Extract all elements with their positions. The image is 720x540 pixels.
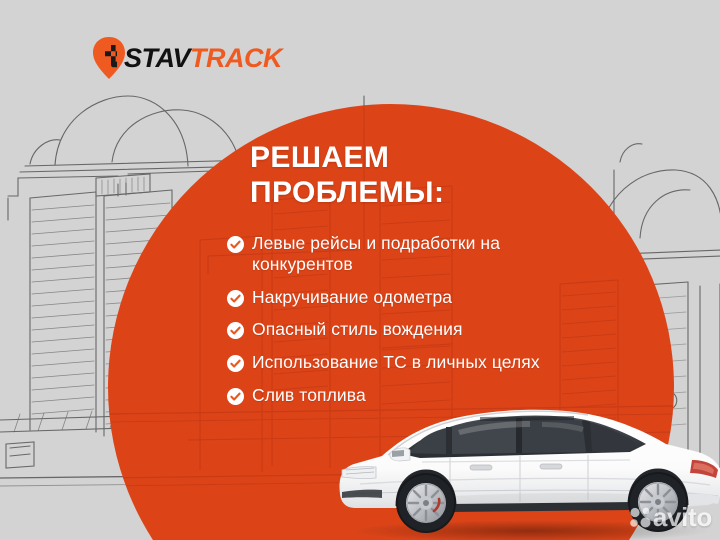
page-title: РЕШАЕМ ПРОБЛЕМЫ: <box>250 140 444 211</box>
location-pin-t-icon <box>92 36 126 80</box>
list-item: Левые рейсы и подработки на конкурентов <box>227 233 557 275</box>
check-circle-icon <box>227 388 244 405</box>
list-item: Использование ТС в личных целях <box>227 352 557 373</box>
logo-text-track: TRACK <box>190 43 282 73</box>
headline-line-1: РЕШАЕМ <box>250 140 444 175</box>
list-item-label: Использование ТС в личных целях <box>252 352 540 373</box>
check-circle-icon <box>227 236 244 253</box>
headline-line-2: ПРОБЛЕМЫ: <box>250 175 444 210</box>
check-circle-icon <box>227 322 244 339</box>
list-item-label: Левые рейсы и подработки на конкурентов <box>252 233 557 275</box>
check-circle-icon <box>227 290 244 307</box>
list-item: Накручивание одометра <box>227 287 557 308</box>
list-item-label: Опасный стиль вождения <box>252 319 463 340</box>
list-item-label: Накручивание одометра <box>252 287 452 308</box>
logo-text-stav: STAV <box>124 43 190 73</box>
check-circle-icon <box>227 355 244 372</box>
promo-poster: STAVTRACK РЕШАЕМ ПРОБЛЕМЫ: Левые рейсы и… <box>0 0 720 540</box>
list-item: Опасный стиль вождения <box>227 319 557 340</box>
avito-watermark-label: avito <box>653 504 712 530</box>
brand-logo: STAVTRACK <box>92 34 282 82</box>
avito-bird-icon <box>628 505 653 530</box>
avito-watermark: avito <box>628 504 712 530</box>
problem-list: Левые рейсы и подработки на конкурентов … <box>227 233 557 406</box>
